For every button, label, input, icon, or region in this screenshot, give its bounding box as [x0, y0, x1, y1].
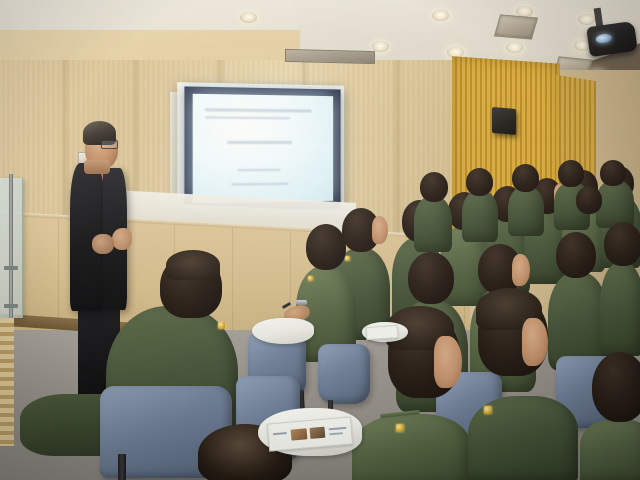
slide-text-line [227, 141, 292, 144]
cadet-torso [600, 262, 640, 356]
tablet-arm[interactable] [252, 318, 314, 344]
chair-leg [118, 454, 126, 480]
cadet-head [306, 224, 346, 270]
uniform-insignia [396, 424, 404, 432]
downlight-icon [240, 12, 257, 23]
slide-text-line [237, 169, 280, 171]
cadet-head [576, 186, 602, 214]
cadet-torso [508, 186, 544, 236]
presenter-hand [92, 234, 114, 254]
booklet-image [309, 427, 325, 439]
cadet-face [372, 216, 388, 244]
cadet-head [558, 160, 584, 187]
cadet-face [512, 254, 530, 286]
wristwatch-icon [296, 300, 307, 305]
chair[interactable] [318, 344, 370, 404]
downlight-icon [506, 42, 523, 53]
slide-text-line [205, 108, 311, 112]
cadet-torso [414, 196, 452, 252]
cadet-head [600, 160, 626, 186]
cadet-hair [166, 250, 220, 280]
wall-vent-icon [285, 49, 375, 64]
cadet-face [434, 336, 462, 388]
presenter-glasses-icon [101, 140, 118, 149]
cadet-face [522, 318, 548, 366]
whiteboard-clip [4, 266, 18, 270]
cadet-head [420, 172, 448, 202]
cadet-torso [462, 190, 498, 242]
uniform-insignia [308, 276, 313, 281]
cadet-head [512, 164, 539, 192]
booklet-text-block [329, 432, 343, 435]
uniform-insignia [218, 322, 225, 329]
cadet-head [408, 252, 454, 304]
cadet-torso [352, 414, 470, 480]
photograph-scene: An older man in a dark suit and pink shi… [0, 0, 640, 480]
cadet-head [604, 222, 640, 266]
booklet-image [291, 428, 308, 440]
handout-booklet[interactable] [366, 325, 399, 340]
uniform-insignia [345, 256, 350, 261]
cadet-head [466, 168, 493, 196]
downlight-icon [432, 10, 449, 21]
projection-screen[interactable] [193, 94, 333, 203]
cadet-head [556, 232, 596, 278]
uniform-insignia [484, 406, 492, 414]
wall-ladder-trim [0, 318, 14, 446]
wall-speaker-icon [492, 107, 516, 135]
slide-text-line [205, 116, 290, 119]
cadet-torso [580, 420, 640, 480]
booklet-text-block [329, 427, 347, 431]
slide-text-line [231, 183, 288, 186]
whiteboard-clip [4, 304, 18, 308]
cadet-head [592, 352, 640, 422]
presenter-hand [112, 228, 132, 250]
booklet-text-block [273, 432, 287, 435]
presenter-neck [84, 160, 110, 174]
ceiling-vent-icon [494, 14, 538, 39]
downlight-icon [578, 14, 595, 25]
